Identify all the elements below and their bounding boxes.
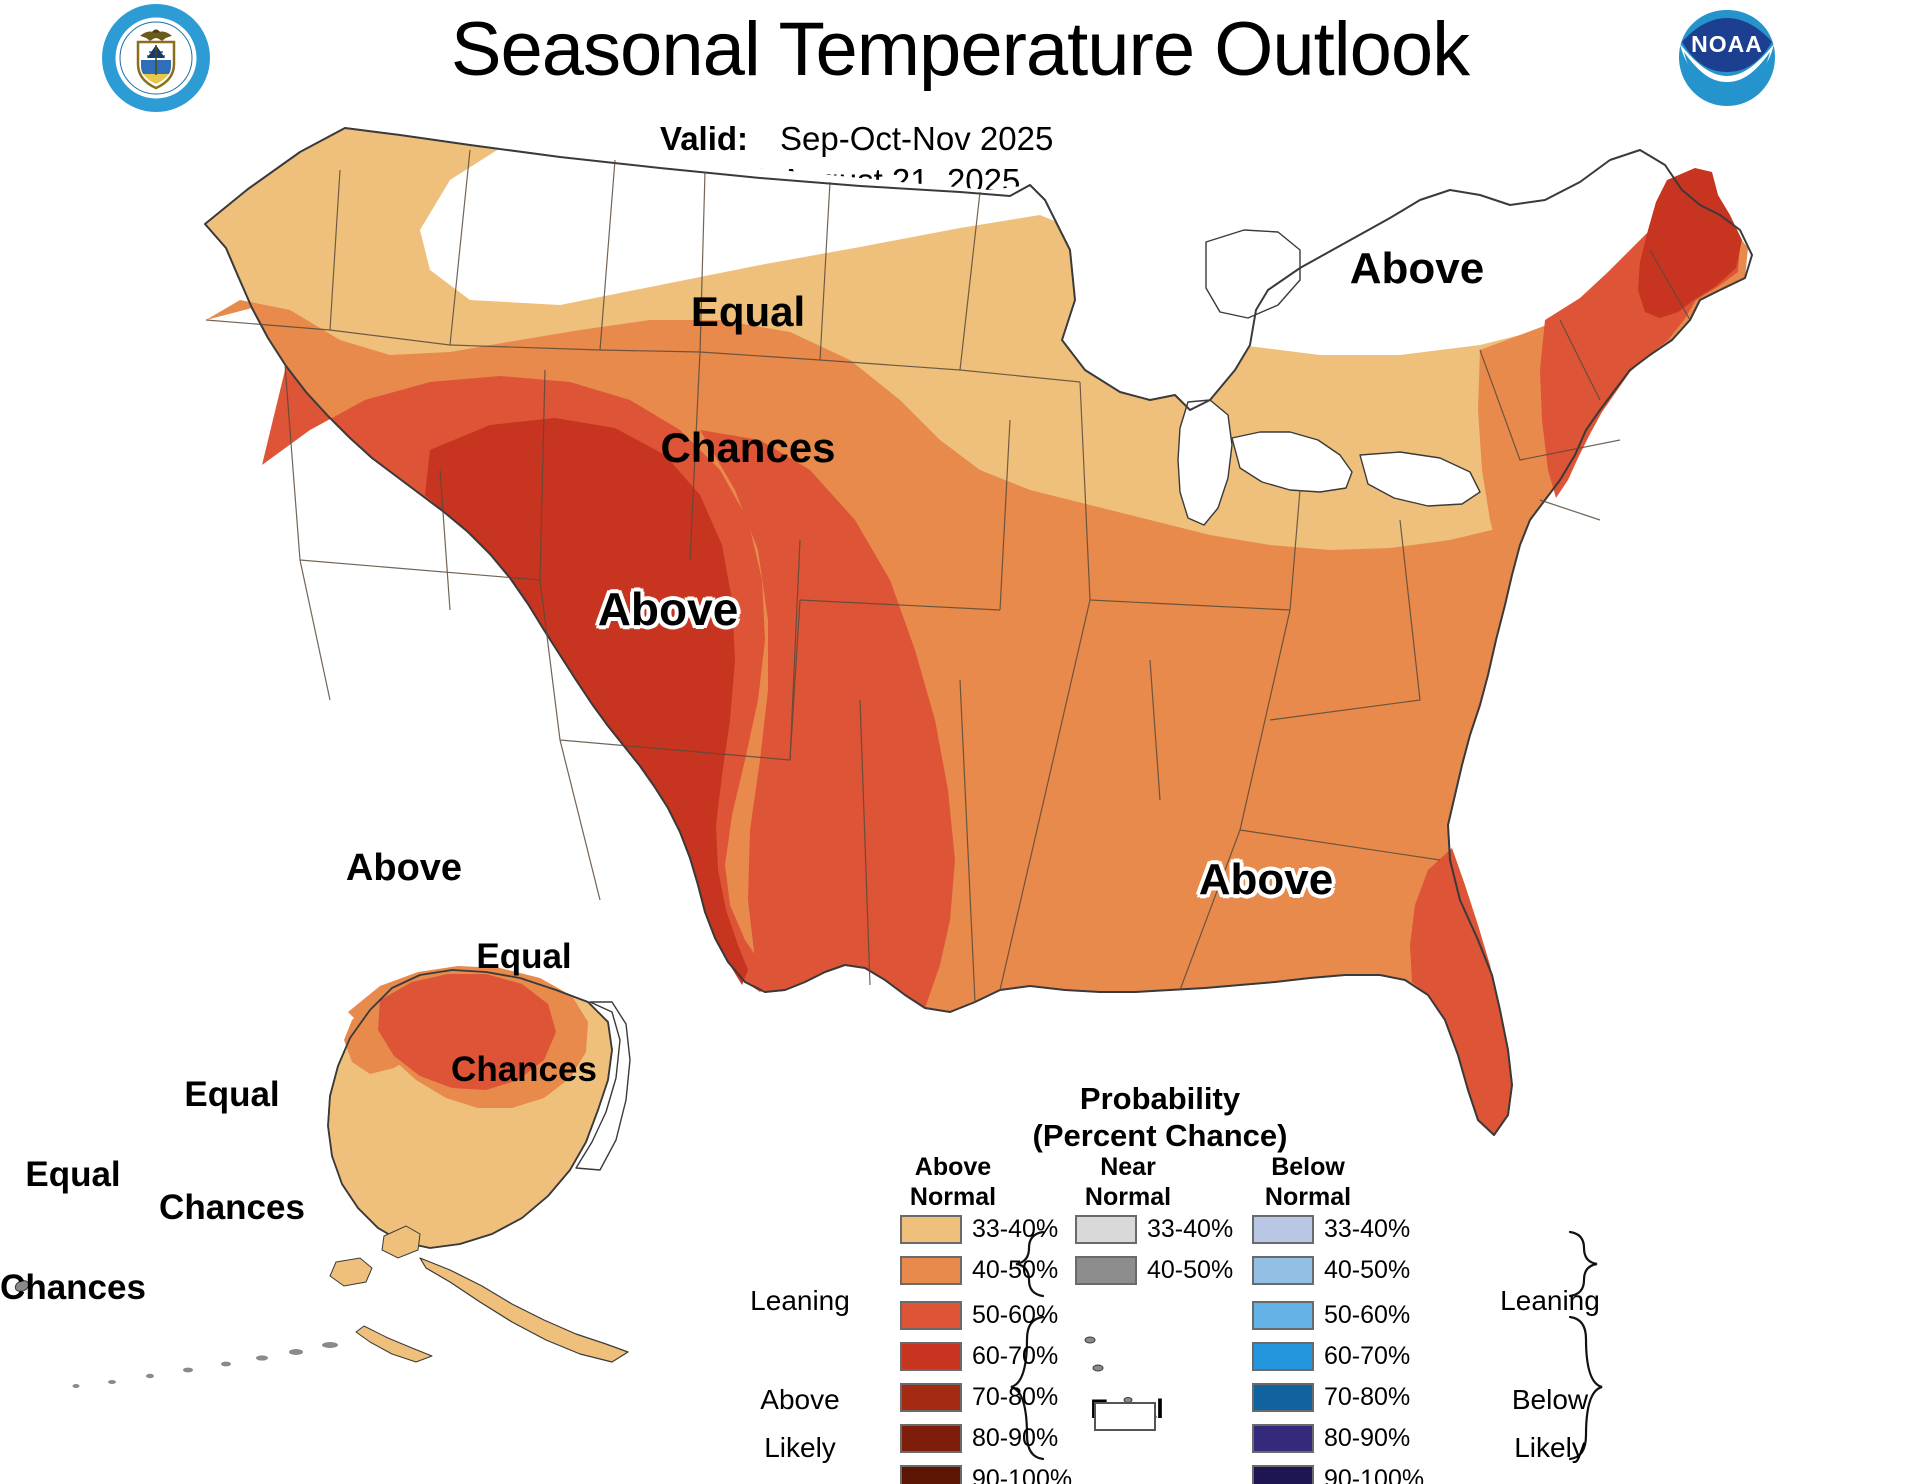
swatch-below-80-90[interactable] [1252,1424,1314,1453]
label-above-southwest: Above [598,585,739,635]
label-line: Chances [660,425,835,470]
swatch-label-below-90-100: 90-100% [1324,1465,1424,1484]
swatch-label-below-60-70: 60-70% [1324,1342,1410,1371]
label-equal-chances-pacific: Equal Chances [0,1080,146,1382]
swatch-below-40-50[interactable] [1252,1256,1314,1285]
swatch-above-70-80[interactable] [900,1383,962,1412]
column-header-near-normal: Near Normal [1063,1153,1193,1212]
col-head-line2: Normal [1063,1183,1193,1213]
label-line: Equal [451,938,597,976]
col-head-line1: Above [888,1153,1018,1183]
swatch-label-above-90-100: 90-100% [972,1465,1072,1484]
swatch-below-90-100[interactable] [1252,1465,1314,1484]
swatch-label-above-40-50: 40-50% [972,1256,1058,1285]
swatch-above-60-70[interactable] [900,1342,962,1371]
swatch-label-below-40-50: 40-50% [1324,1256,1410,1285]
col-head-line2: Normal [888,1183,1018,1213]
swatch-equal-chances[interactable] [1094,1402,1156,1431]
swatch-label-above-60-70: 60-70% [972,1342,1058,1371]
label-line: Chances [451,1051,597,1089]
label-above-florida: Above [1199,856,1333,904]
swatch-above-33-40[interactable] [900,1215,962,1244]
label-above-alaska: Above [346,848,462,889]
swatch-label-below-33-40: 33-40% [1324,1215,1410,1244]
swatch-below-50-60[interactable] [1252,1301,1314,1330]
swatch-near-33-40[interactable] [1075,1215,1137,1244]
leaning-below-line1: Leaning [1460,1284,1640,1317]
column-header-above-normal: Above Normal [888,1153,1018,1212]
swatch-label-near-33-40: 33-40% [1147,1215,1233,1244]
swatch-label-above-33-40: 33-40% [972,1215,1058,1244]
swatch-near-40-50[interactable] [1075,1256,1137,1285]
swatch-below-60-70[interactable] [1252,1342,1314,1371]
label-line: Chances [159,1189,305,1227]
label-above-northeast: Above [1350,245,1484,293]
label-line: Equal [660,289,835,334]
label-equal-chances-hawaii: Equal Chances [159,1000,305,1302]
swatch-below-70-80[interactable] [1252,1383,1314,1412]
likely-above-line1: Likely [710,1431,890,1464]
swatch-above-40-50[interactable] [900,1256,962,1285]
swatch-above-80-90[interactable] [900,1424,962,1453]
legend-title-line1: Probability [960,1080,1360,1117]
seasonal-temperature-outlook-page: NOAA Seasonal Temperature Outlook Valid:… [0,0,1920,1484]
swatch-label-below-50-60: 50-60% [1324,1301,1410,1330]
col-head-line1: Near [1063,1153,1193,1183]
label-equal-chances-alaska: Equal Chances [451,862,597,1164]
likely-below-line1: Likely [1460,1431,1640,1464]
label-line: Chances [0,1269,146,1307]
swatch-label-above-80-90: 80-90% [972,1424,1058,1453]
legend-title-line2: (Percent Chance) [960,1117,1360,1154]
swatch-label-above-50-60: 50-60% [972,1301,1058,1330]
legend-title: Probability (Percent Chance) [960,1080,1360,1154]
group-label-likely-above: Likely Above [710,1365,890,1484]
swatch-label-above-70-80: 70-80% [972,1383,1058,1412]
col-head-line2: Normal [1243,1183,1373,1213]
label-equal-chances-northern-plains: Equal Chances [660,198,835,561]
swatch-label-near-40-50: 40-50% [1147,1256,1233,1285]
leaning-above-line1: Leaning [710,1284,890,1317]
label-line: Equal [0,1156,146,1194]
swatch-label-below-70-80: 70-80% [1324,1383,1410,1412]
label-line: Equal [159,1076,305,1114]
col-head-line1: Below [1243,1153,1373,1183]
swatch-above-90-100[interactable] [900,1465,962,1484]
swatch-label-below-80-90: 80-90% [1324,1424,1410,1453]
swatch-below-33-40[interactable] [1252,1215,1314,1244]
column-header-below-normal: Below Normal [1243,1153,1373,1212]
group-label-likely-below: Likely Below [1460,1365,1640,1484]
swatch-above-50-60[interactable] [900,1301,962,1330]
